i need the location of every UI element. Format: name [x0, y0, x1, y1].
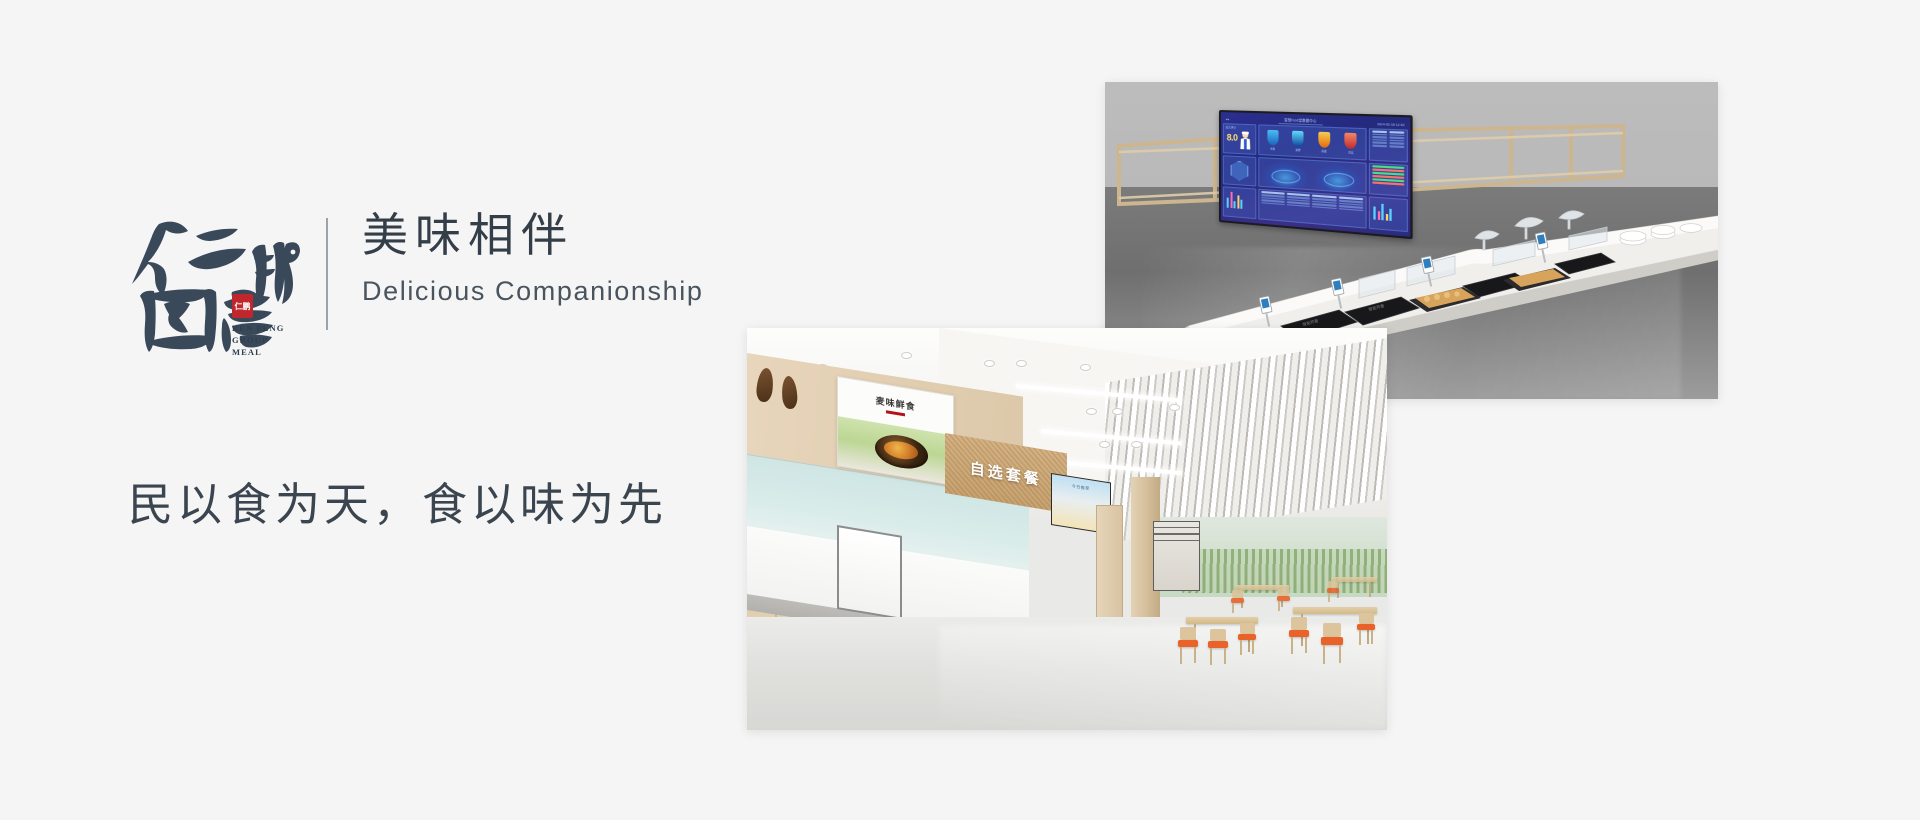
- chair-leg: [1305, 637, 1307, 653]
- menu-sign-rule: [886, 411, 904, 417]
- brand-lockup: 仁鹏 REN PENG GROUP MEAL 美味相伴 Delicious Co…: [128, 200, 703, 352]
- chair-leg: [1252, 640, 1254, 654]
- table-row: [1372, 145, 1404, 148]
- dashboard-title: 智慧food堂数据中心: [1278, 117, 1323, 126]
- gauge-item: 汤品: [1338, 132, 1363, 160]
- chair-leg: [1232, 603, 1234, 613]
- seal-and-english-block: 仁鹏 REN PENG GROUP MEAL: [232, 294, 304, 358]
- chair-leg: [1180, 647, 1182, 664]
- dashboard-kpi-card: 综合评分 8.0: [1223, 123, 1256, 154]
- wall-framed-panel: [837, 525, 902, 620]
- chair-seat: [1289, 630, 1309, 637]
- chair-seat: [1321, 637, 1343, 645]
- tagline-text: 民以食为天，食以味为先: [128, 468, 667, 533]
- radial-row: [1259, 158, 1365, 195]
- chair-leg: [1194, 647, 1196, 663]
- seal-text: 仁鹏: [235, 302, 251, 311]
- chair-leg: [1210, 648, 1212, 665]
- dining-table-unit: [1291, 601, 1387, 681]
- chair-seat: [1178, 640, 1198, 647]
- chair-leg: [1323, 645, 1325, 664]
- chair-leg: [1291, 637, 1293, 654]
- chair-back: [1210, 629, 1226, 641]
- menu-sign-title: 麦味鲜食: [875, 394, 915, 414]
- gauge-label: 面食: [1295, 148, 1300, 152]
- dining-chair: [1357, 613, 1379, 649]
- dashboard-hex-card: [1223, 155, 1256, 187]
- headline-english: Delicious Companionship: [362, 276, 703, 307]
- dining-table-unit: [1329, 573, 1387, 609]
- wall-tv-text: 今日推荐: [1052, 480, 1110, 495]
- gauge-label: 汤品: [1348, 150, 1353, 155]
- chair-leg: [1339, 645, 1341, 663]
- dashboard-list-card: [1369, 128, 1408, 162]
- dashboard-radials-card: [1258, 157, 1366, 195]
- downlight: [1016, 360, 1027, 367]
- chair-seat: [1208, 641, 1228, 648]
- chair-back: [1278, 588, 1289, 596]
- chair-back: [1240, 623, 1255, 634]
- chair-back: [1359, 613, 1374, 624]
- dining-chair: [1321, 623, 1347, 667]
- display-shelf: [1153, 521, 1200, 591]
- chair-back: [1180, 627, 1196, 640]
- radar-hex-shape: [1231, 160, 1249, 181]
- downlight: [984, 360, 995, 367]
- chair-leg: [1328, 593, 1330, 602]
- downlight: [1131, 441, 1142, 448]
- dining-chair: [1327, 581, 1342, 603]
- chair-leg: [1240, 640, 1242, 655]
- downlight: [1080, 364, 1091, 371]
- list-mini: [1370, 129, 1407, 150]
- chair-back: [1328, 581, 1338, 588]
- gauge-label: 米饭: [1270, 146, 1275, 150]
- dining-chair: [1178, 627, 1202, 667]
- dashboard-status-chips-card: [1369, 162, 1408, 197]
- headline-block: 美味相伴 Delicious Companionship: [362, 200, 703, 307]
- gauge-item: 热菜: [1312, 131, 1336, 160]
- dashboard-gauges-card: 米饭 面食 热菜 汤品: [1258, 124, 1366, 160]
- cafeteria-interior-image: 麦味鲜食 自选套餐 今日推荐: [747, 328, 1387, 730]
- brand-en-line-2: GROUP: [232, 334, 304, 346]
- gauge-row: 米饭 面食 热菜 汤品: [1259, 125, 1365, 160]
- headline-chinese: 美味相伴: [362, 208, 703, 262]
- dining-chair: [1289, 617, 1313, 657]
- chair-leg: [1278, 601, 1280, 611]
- brand-divider: [326, 218, 328, 330]
- wicker-sign-text: 自选套餐: [970, 456, 1042, 489]
- dashboard-clock: 2024-05-18 12:30: [1377, 121, 1404, 126]
- radial-gauge: [1313, 163, 1364, 195]
- chair-back: [1232, 590, 1243, 598]
- gauge-item: 面食: [1286, 131, 1310, 159]
- dashboard-kpi-value: 8.0: [1227, 132, 1238, 143]
- chair-leg: [1359, 630, 1361, 645]
- chair-back: [1323, 623, 1341, 637]
- gauge-label: 热菜: [1321, 149, 1326, 153]
- downlight: [1099, 441, 1110, 448]
- gauge-item: 米饭: [1261, 130, 1284, 158]
- chair-leg: [1224, 648, 1226, 664]
- brand-en-line-1: REN PENG: [232, 322, 304, 334]
- service-door: [1096, 505, 1124, 628]
- dining-table-unit: [1233, 581, 1303, 621]
- dining-chair: [1208, 629, 1232, 669]
- table-leg: [1369, 582, 1371, 597]
- brand-en-line-3: MEAL: [232, 346, 304, 358]
- dining-chair: [1277, 588, 1293, 612]
- hero-banner: ●● 智慧food堂数据中心 2024-05-18 12:30 综合评分 8.0: [0, 0, 1920, 820]
- chair-leg: [1371, 630, 1373, 644]
- dining-chair: [1238, 623, 1260, 659]
- chef-illustration-icon: [1238, 130, 1252, 151]
- dining-chair: [1231, 590, 1247, 614]
- dish-photo: [874, 431, 927, 473]
- dashboard-logo: ●●: [1226, 117, 1230, 121]
- downlight: [901, 352, 912, 359]
- radial-gauge: [1261, 160, 1309, 192]
- status-chip-list: [1370, 164, 1407, 187]
- red-seal-icon: 仁鹏: [232, 294, 253, 318]
